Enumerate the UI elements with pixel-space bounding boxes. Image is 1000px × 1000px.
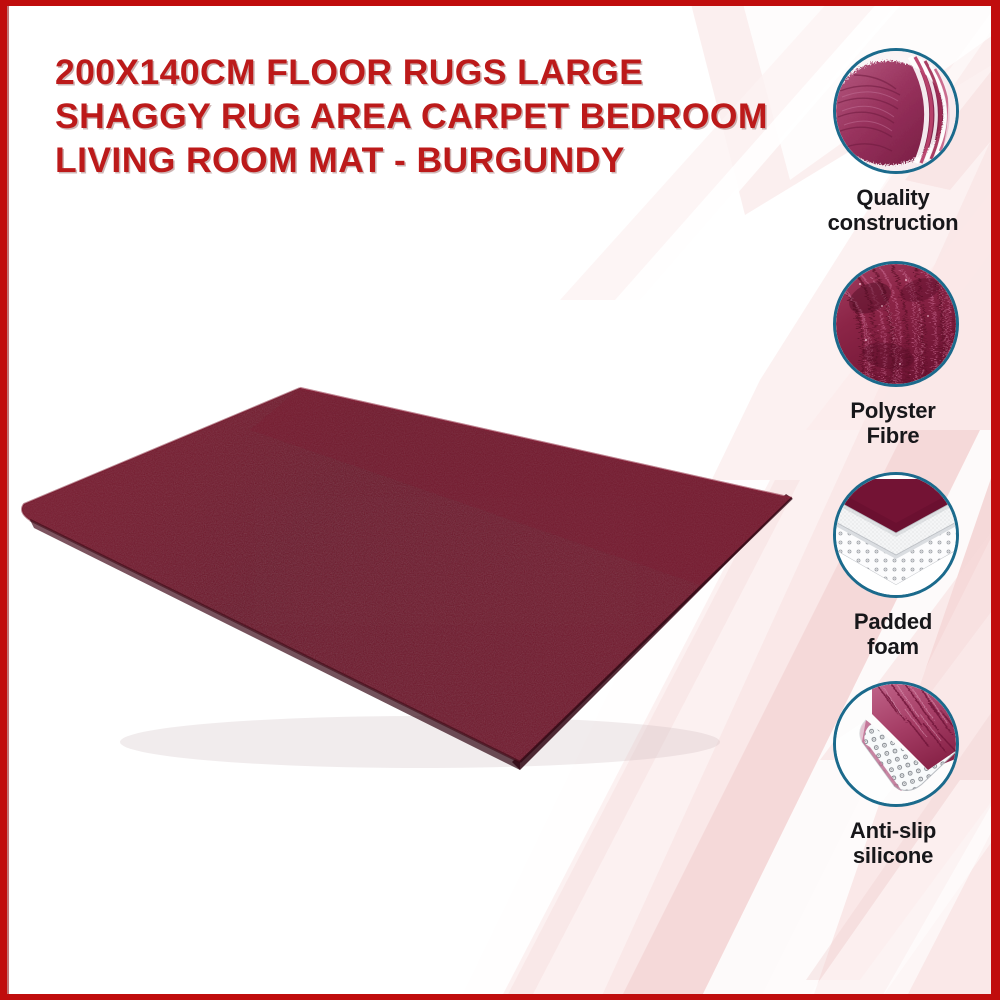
shaggy-fibre-closeup-icon xyxy=(833,261,959,387)
product-listing-image: 200x140cm Floor Rugs Large Shaggy Rug Ar… xyxy=(0,0,1000,1000)
feature-callout: Qualityconstruction xyxy=(800,48,991,235)
page-title: 200x140cm Floor Rugs Large Shaggy Rug Ar… xyxy=(55,50,795,182)
feature-callout: PolysterFibre xyxy=(800,261,991,448)
product-photo-rug xyxy=(0,370,800,790)
feature-label: Qualityconstruction xyxy=(793,185,993,235)
rug-edge-closeup-icon xyxy=(833,48,959,174)
rug-illustration xyxy=(0,370,800,790)
foam-layers-cross-section-icon xyxy=(833,472,959,598)
feature-label: PolysterFibre xyxy=(793,398,993,448)
feature-label: Anti-slipsilicone xyxy=(793,818,993,868)
feature-callout: Paddedfoam xyxy=(800,472,991,659)
anti-slip-backing-icon xyxy=(833,681,959,807)
feature-callout: Anti-slipsilicone xyxy=(800,681,991,868)
feature-callout-rail: Qualityconstruction xyxy=(800,34,991,994)
feature-label: Paddedfoam xyxy=(793,609,993,659)
product-title-block: 200x140cm Floor Rugs Large Shaggy Rug Ar… xyxy=(55,50,795,182)
